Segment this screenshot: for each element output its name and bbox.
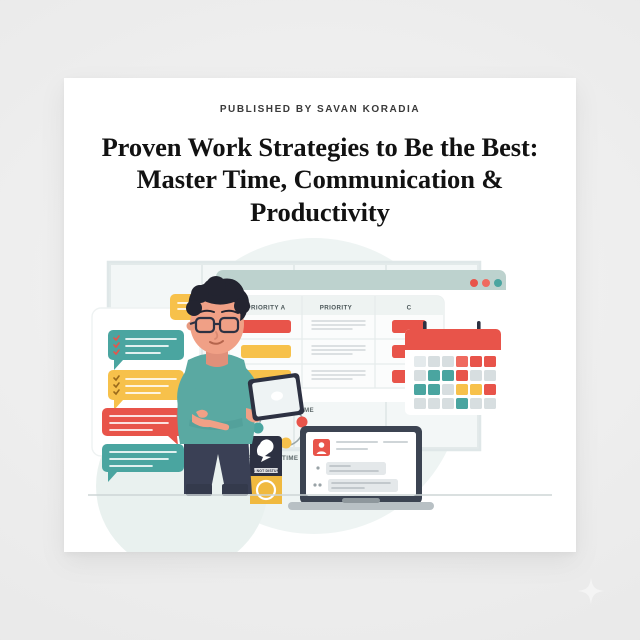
svg-text:PRIORITY A: PRIORITY A <box>246 305 285 312</box>
article-card: PUBLISHED BY SAVAN KORADIA Proven Work S… <box>64 78 576 552</box>
page-title: Proven Work Strategies to Be the Best: M… <box>86 131 554 228</box>
do-not-disturb-sign: DO NOT DISTURB <box>250 436 282 504</box>
svg-text:DO NOT DISTURB: DO NOT DISTURB <box>250 469 282 473</box>
work-productivity-illustration: PRIORITY A PRIORITY C <box>64 236 576 552</box>
laptop-device <box>288 426 434 510</box>
sparkle-icon <box>578 578 604 604</box>
publisher-kicker: PUBLISHED BY SAVAN KORADIA <box>64 104 576 115</box>
svg-text:C: C <box>407 305 412 312</box>
calendar-widget <box>405 321 501 415</box>
svg-text:PRIORITY: PRIORITY <box>320 305 353 312</box>
